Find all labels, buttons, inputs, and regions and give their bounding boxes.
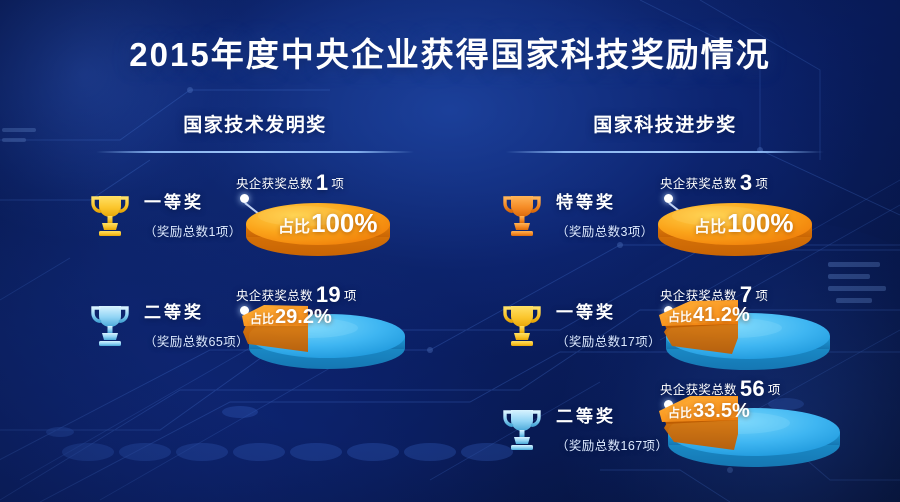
trophy-bronze-icon — [500, 192, 544, 238]
section-national-progress-award: 国家科技进步奖 — [460, 110, 870, 153]
section-divider-left — [96, 151, 414, 153]
trophy-silver-icon — [500, 406, 544, 452]
page-title: 2015年度中央企业获得国家科技奖励情况 — [0, 28, 900, 76]
pie-percent-value: 100% — [727, 208, 794, 238]
pie-percent-value: 41.2% — [693, 304, 750, 326]
award-total: （奖励总数1项） — [144, 221, 242, 240]
pie-percent-prefix: 占比 — [694, 219, 726, 236]
section-divider-right — [506, 151, 824, 153]
callout-unit: 项 — [755, 177, 768, 191]
section-heading-left: 国家技术发明奖 — [50, 110, 460, 137]
callout-soe-total: 央企获奖总数3项 — [660, 170, 768, 196]
pie-percent-label: 占比100% — [694, 208, 794, 239]
pie-percent-label: 占比41.2% — [668, 304, 750, 327]
callout-number: 1 — [316, 170, 329, 195]
pie-chart-invention-first[interactable]: 占比100% — [242, 196, 394, 263]
pie-chart-progress-first[interactable]: 占比41.2% — [646, 298, 842, 377]
pie-percent-label: 占比33.5% — [668, 400, 750, 423]
award-name: 一等奖 — [144, 188, 242, 213]
pie-chart-progress-special[interactable]: 占比100% — [654, 196, 816, 263]
trophy-gold-icon — [88, 192, 132, 238]
pie-percent-label: 占比100% — [278, 208, 378, 239]
award-total: （奖励总数3项） — [556, 221, 654, 240]
section-national-invention-award: 国家技术发明奖 — [50, 110, 460, 153]
pie-percent-prefix: 占比 — [278, 219, 310, 236]
trophy-silver-icon — [88, 302, 132, 348]
callout-prefix: 央企获奖总数 — [236, 177, 313, 191]
pie-percent-value: 33.5% — [693, 400, 750, 422]
pie-percent-prefix: 占比 — [250, 312, 274, 326]
pie-percent-label: 占比29.2% — [250, 306, 332, 329]
pie-chart-progress-second[interactable]: 占比33.5% — [646, 392, 852, 477]
section-heading-right: 国家科技进步奖 — [460, 110, 870, 137]
award-labels: 一等奖 （奖励总数1项） — [144, 188, 242, 240]
callout-soe-total: 央企获奖总数1项 — [236, 170, 344, 196]
award-name: 特等奖 — [556, 188, 654, 213]
pie-percent-prefix: 占比 — [668, 310, 692, 324]
callout-prefix: 央企获奖总数 — [660, 177, 737, 191]
pie-percent-value: 100% — [311, 208, 378, 238]
infographic-canvas: 2015年度中央企业获得国家科技奖励情况 国家技术发明奖 国家科技进步奖 — [0, 0, 900, 502]
pie-percent-value: 29.2% — [275, 306, 332, 328]
callout-number: 3 — [740, 170, 753, 195]
pie-percent-prefix: 占比 — [668, 406, 692, 420]
trophy-gold-icon — [500, 302, 544, 348]
award-labels: 特等奖 （奖励总数3项） — [556, 188, 654, 240]
pie-chart-invention-second[interactable]: 占比29.2% — [230, 300, 416, 375]
callout-unit: 项 — [331, 177, 344, 191]
